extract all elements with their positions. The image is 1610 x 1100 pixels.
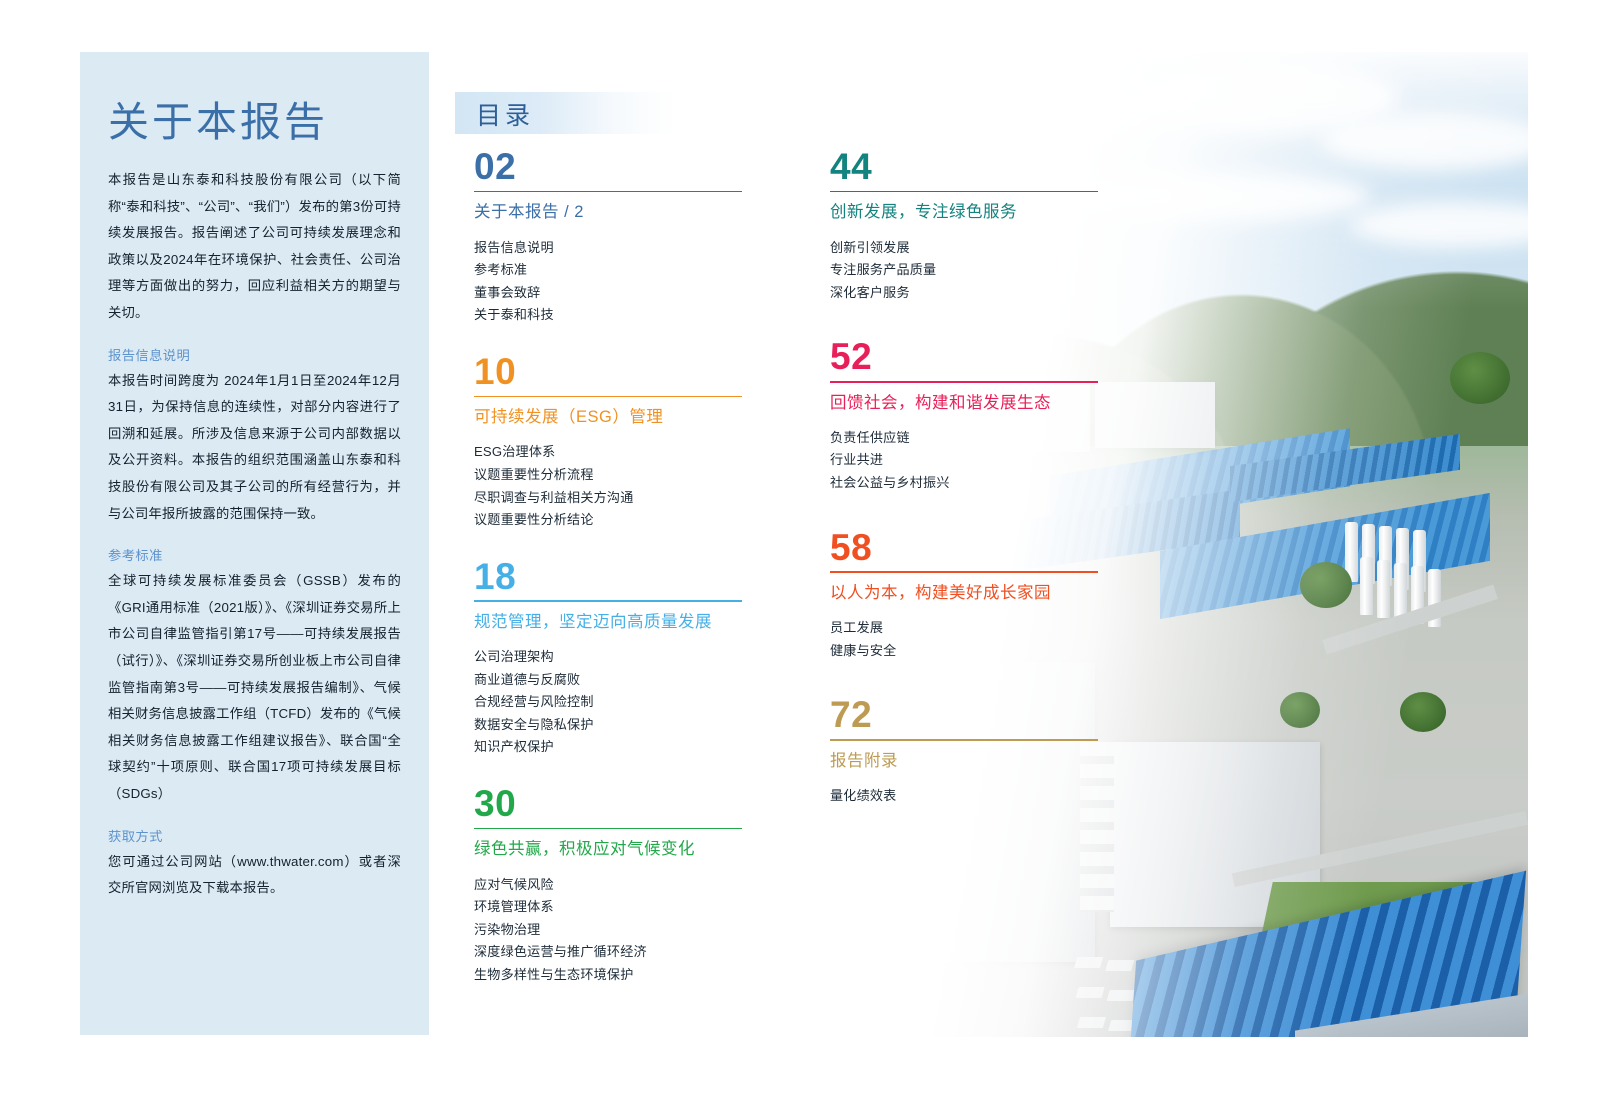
toc-subitem[interactable]: 创新引领发展	[830, 237, 1098, 260]
toc-subitem[interactable]: 公司治理架构	[474, 646, 742, 669]
toc-section-heading[interactable]: 报告附录	[830, 750, 1098, 772]
toc-title: 目录	[476, 96, 534, 132]
about-section-body: 本报告时间跨度为 2024年1月1日至2024年12月31日，为保持信息的连续性…	[108, 368, 401, 528]
storage-tank	[1377, 560, 1390, 618]
toc-subitem[interactable]: 量化绩效表	[830, 785, 1098, 808]
report-page: 关于本报告 本报告是山东泰和科技股份有限公司（以下简称“泰和科技”、“公司”、“…	[0, 0, 1610, 1100]
toc-page-number: 18	[474, 558, 742, 597]
toc-divider	[474, 396, 742, 398]
toc-subitem[interactable]: 健康与安全	[830, 640, 1098, 663]
toc-subitem[interactable]: 报告信息说明	[474, 237, 742, 260]
toc-subitem[interactable]: 议题重要性分析结论	[474, 509, 742, 532]
about-report-panel: 关于本报告 本报告是山东泰和科技股份有限公司（以下简称“泰和科技”、“公司”、“…	[80, 52, 429, 1035]
toc-entry[interactable]: 58以人为本，构建美好成长家园员工发展健康与安全	[830, 529, 1098, 663]
about-section-subtitle: 参考标准	[108, 545, 401, 564]
about-section: 参考标准 全球可持续发展标准委员会（GSSB）发布的《GRI通用标准（2021版…	[108, 545, 401, 807]
toc-subitem[interactable]: 生物多样性与生态环境保护	[474, 964, 742, 987]
toc-divider	[830, 571, 1098, 573]
toc-entry[interactable]: 10可持续发展（ESG）管理ESG治理体系议题重要性分析流程尽职调查与利益相关方…	[474, 353, 742, 532]
about-section-body: 您可通过公司网站（www.thwater.com）或者深交所官网浏览及下载本报告…	[108, 849, 401, 902]
about-intro-paragraph: 本报告是山东泰和科技股份有限公司（以下简称“泰和科技”、“公司”、“我们”）发布…	[108, 167, 401, 327]
toc-subitem-list: ESG治理体系议题重要性分析流程尽职调查与利益相关方沟通议题重要性分析结论	[474, 441, 742, 531]
toc-subitem[interactable]: 深度绿色运营与推广循环经济	[474, 941, 742, 964]
toc-page-number: 10	[474, 353, 742, 392]
toc-subitem[interactable]: 尽职调查与利益相关方沟通	[474, 487, 742, 510]
plant-building	[1095, 382, 1215, 448]
toc-subitem[interactable]: 专注服务产品质量	[830, 259, 1098, 282]
toc-page-number: 44	[830, 148, 1098, 187]
toc-divider	[830, 739, 1098, 741]
toc-subitem-list: 报告信息说明参考标准董事会致辞关于泰和科技	[474, 237, 742, 327]
toc-divider	[474, 828, 742, 830]
about-section: 报告信息说明 本报告时间跨度为 2024年1月1日至2024年12月31日，为保…	[108, 345, 401, 528]
toc-page-number: 58	[830, 529, 1098, 568]
toc-subitem[interactable]: 污染物治理	[474, 919, 742, 942]
toc-subitem-list: 创新引领发展专注服务产品质量深化客户服务	[830, 237, 1098, 305]
tree	[1280, 692, 1320, 728]
toc-section-heading[interactable]: 创新发展，专注绿色服务	[830, 201, 1098, 223]
toc-section-heading[interactable]: 可持续发展（ESG）管理	[474, 406, 742, 428]
toc-section-heading[interactable]: 关于本报告 / 2	[474, 201, 742, 223]
toc-subitem[interactable]: 行业共进	[830, 449, 1098, 472]
toc-subitem[interactable]: 关于泰和科技	[474, 304, 742, 327]
toc-subitem[interactable]: 议题重要性分析流程	[474, 464, 742, 487]
toc-subitem-list: 负责任供应链行业共进社会公益与乡村振兴	[830, 427, 1098, 495]
tree	[1400, 692, 1446, 732]
toc-entry[interactable]: 30绿色共赢，积极应对气候变化应对气候风险环境管理体系污染物治理深度绿色运营与推…	[474, 785, 742, 986]
toc-subitem[interactable]: 负责任供应链	[830, 427, 1098, 450]
toc-subitem[interactable]: 应对气候风险	[474, 874, 742, 897]
toc-entry[interactable]: 52回馈社会，构建和谐发展生态负责任供应链行业共进社会公益与乡村振兴	[830, 338, 1098, 494]
toc-section-heading[interactable]: 回馈社会，构建和谐发展生态	[830, 392, 1098, 414]
toc-divider	[830, 191, 1098, 193]
tree	[1450, 352, 1510, 404]
toc-page-number: 72	[830, 696, 1098, 735]
toc-entry[interactable]: 72报告附录量化绩效表	[830, 696, 1098, 807]
toc-subitem[interactable]: 参考标准	[474, 259, 742, 282]
toc-subitem-list: 公司治理架构商业道德与反腐败合规经营与风险控制数据安全与隐私保护知识产权保护	[474, 646, 742, 759]
toc-subitem-list: 量化绩效表	[830, 785, 1098, 808]
toc-subitem[interactable]: 员工发展	[830, 617, 1098, 640]
toc-page-number: 02	[474, 148, 742, 187]
toc-subitem[interactable]: 社会公益与乡村振兴	[830, 472, 1098, 495]
storage-tank	[1360, 557, 1373, 615]
toc-subitem[interactable]: 商业道德与反腐败	[474, 669, 742, 692]
toc-column-right: 44创新发展，专注绿色服务创新引领发展专注服务产品质量深化客户服务52回馈社会，…	[830, 148, 1098, 841]
cloud-shape	[1070, 172, 1370, 222]
toc-section-heading[interactable]: 绿色共赢，积极应对气候变化	[474, 838, 742, 860]
toc-subitem-list: 应对气候风险环境管理体系污染物治理深度绿色运营与推广循环经济生物多样性与生态环境…	[474, 874, 742, 987]
toc-section-heading[interactable]: 以人为本，构建美好成长家园	[830, 582, 1098, 604]
tree	[1300, 562, 1352, 608]
toc-subitem[interactable]: 数据安全与隐私保护	[474, 714, 742, 737]
toc-subitem[interactable]: 深化客户服务	[830, 282, 1098, 305]
toc-entry[interactable]: 18规范管理，坚定迈向高质量发展公司治理架构商业道德与反腐败合规经营与风险控制数…	[474, 558, 742, 759]
toc-entry[interactable]: 44创新发展，专注绿色服务创新引领发展专注服务产品质量深化客户服务	[830, 148, 1098, 304]
toc-entry[interactable]: 02关于本报告 / 2报告信息说明参考标准董事会致辞关于泰和科技	[474, 148, 742, 327]
about-section: 获取方式 您可通过公司网站（www.thwater.com）或者深交所官网浏览及…	[108, 826, 401, 902]
toc-page-number: 30	[474, 785, 742, 824]
toc-divider	[830, 381, 1098, 383]
about-section-subtitle: 报告信息说明	[108, 345, 401, 364]
toc-subitem-list: 员工发展健康与安全	[830, 617, 1098, 662]
toc-page-number: 52	[830, 338, 1098, 377]
cloud-shape	[960, 80, 1160, 140]
page-title: 关于本报告	[108, 100, 401, 145]
toc-column-left: 02关于本报告 / 2报告信息说明参考标准董事会致辞关于泰和科技10可持续发展（…	[474, 148, 742, 1012]
toc-subitem[interactable]: 董事会致辞	[474, 282, 742, 305]
toc-subitem[interactable]: 合规经营与风险控制	[474, 691, 742, 714]
toc-divider	[474, 191, 742, 193]
toc-subitem[interactable]: 环境管理体系	[474, 896, 742, 919]
toc-section-heading[interactable]: 规范管理，坚定迈向高质量发展	[474, 611, 742, 633]
about-section-subtitle: 获取方式	[108, 826, 401, 845]
about-section-body: 全球可持续发展标准委员会（GSSB）发布的《GRI通用标准（2021版）》、《深…	[108, 568, 401, 807]
toc-divider	[474, 600, 742, 602]
toc-subitem[interactable]: 知识产权保护	[474, 736, 742, 759]
toc-subitem[interactable]: ESG治理体系	[474, 441, 742, 464]
